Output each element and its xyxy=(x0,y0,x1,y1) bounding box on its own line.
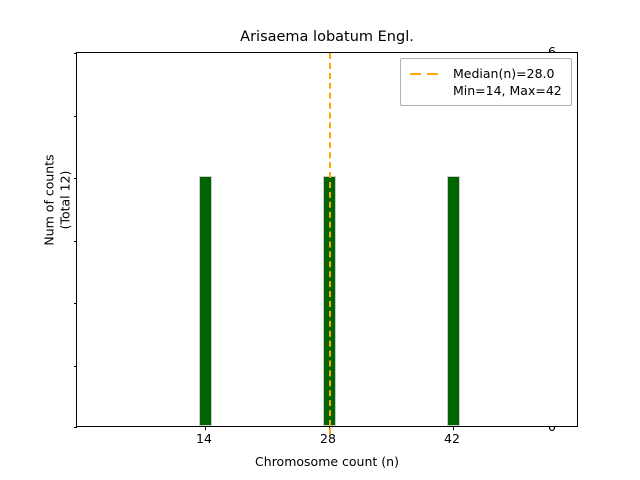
median-line-stub xyxy=(329,428,331,434)
plot-area xyxy=(76,52,578,427)
legend[interactable]: Median(n)=28.0 Min=14, Max=42 xyxy=(400,58,572,106)
xtick-label-14: 14 xyxy=(174,432,234,446)
legend-minmax-text: Min=14, Max=42 xyxy=(453,82,562,99)
ytick-mark-6 xyxy=(74,53,78,54)
y-axis-label-line1: Num of counts xyxy=(42,13,58,388)
ytick-mark-3 xyxy=(74,241,78,242)
xtick-mark-14 xyxy=(205,426,206,430)
ytick-mark-1 xyxy=(74,366,78,367)
xtick-label-28: 28 xyxy=(298,432,358,446)
ytick-mark-2 xyxy=(74,303,78,304)
plot-inner xyxy=(77,53,577,426)
dashed-line-icon xyxy=(409,66,445,82)
xtick-label-42: 42 xyxy=(422,432,482,446)
y-axis-label-line2: (Total 12) xyxy=(58,13,74,388)
legend-entry-median: Median(n)=28.0 Min=14, Max=42 xyxy=(409,65,563,99)
ytick-mark-0 xyxy=(74,427,78,428)
matplotlib-figure: Arisaema lobatum Engl. 6 5 4 3 2 1 0 14 … xyxy=(0,0,640,480)
bar-n-14 xyxy=(199,176,212,426)
median-line xyxy=(329,53,331,426)
bar-n-42 xyxy=(447,176,460,426)
xtick-mark-42 xyxy=(453,426,454,430)
legend-entry-label: Median(n)=28.0 Min=14, Max=42 xyxy=(453,65,562,99)
x-axis-label: Chromosome count (n) xyxy=(76,454,578,469)
page-title: Arisaema lobatum Engl. xyxy=(76,28,578,46)
legend-median-text: Median(n)=28.0 xyxy=(453,65,562,82)
ytick-mark-4 xyxy=(74,178,78,179)
ytick-mark-5 xyxy=(74,116,78,117)
